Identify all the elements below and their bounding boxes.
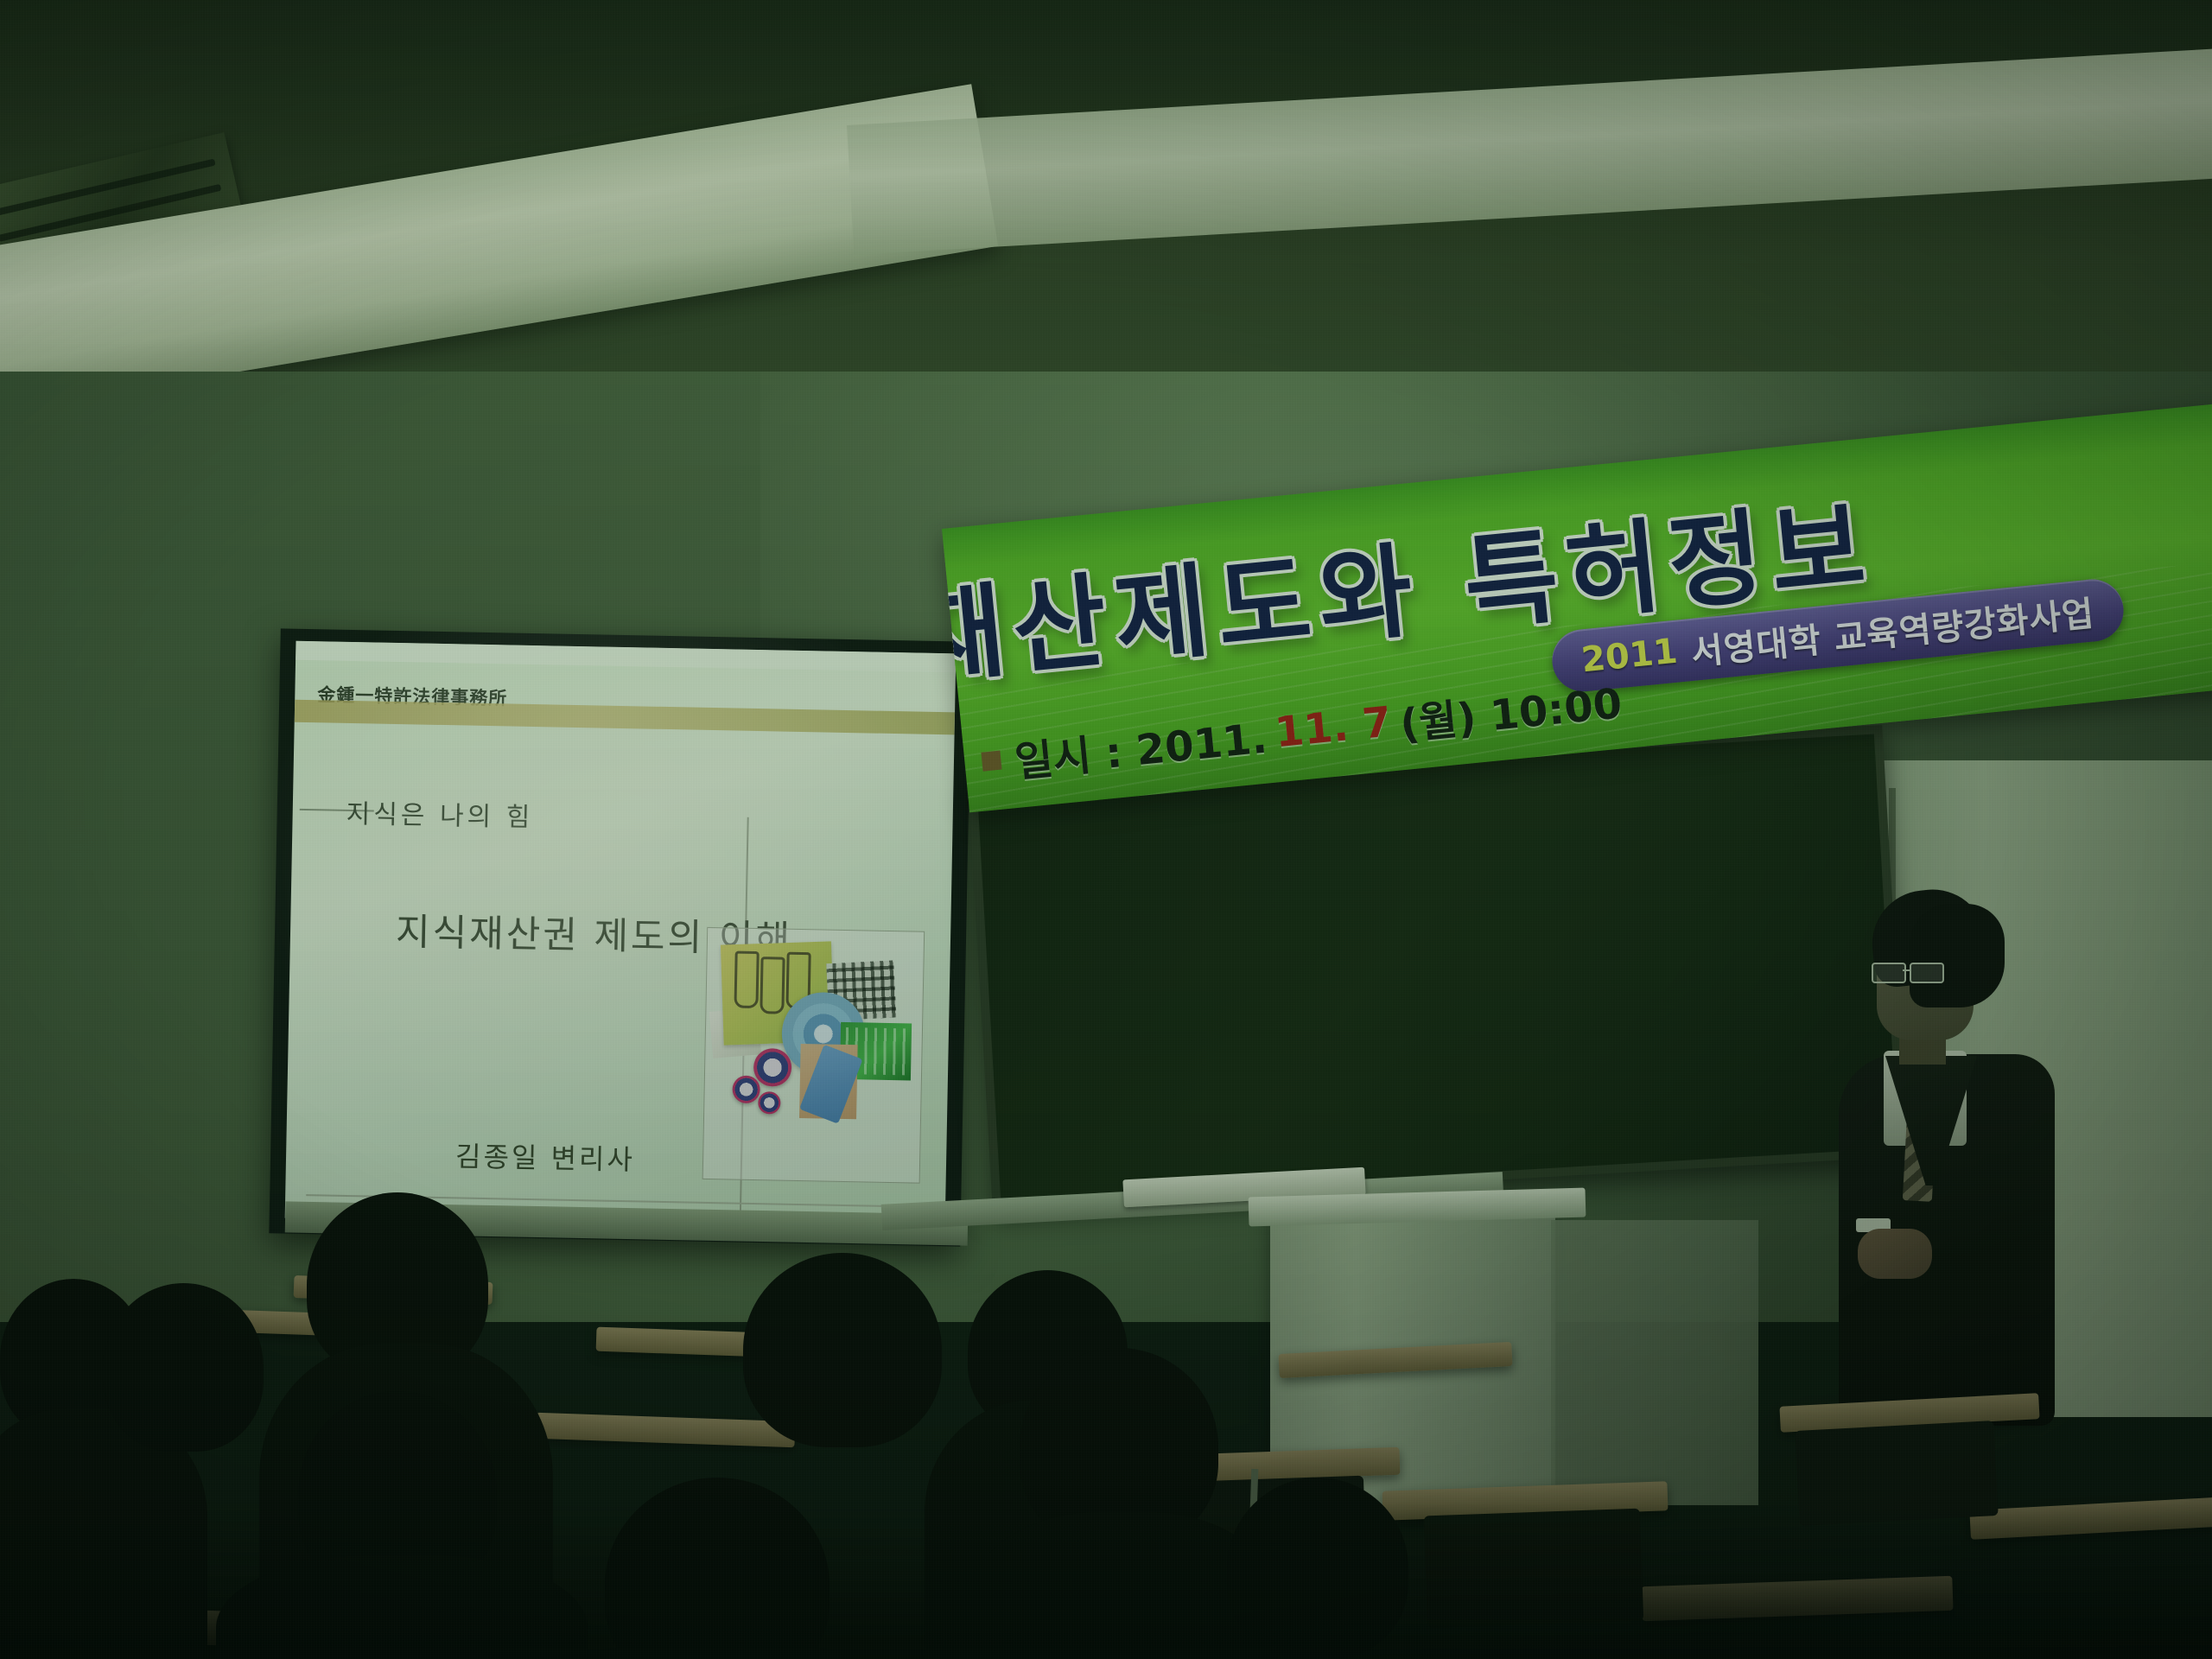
seal-badge-icon: [732, 1076, 760, 1104]
slide-tagline: 지식은 나의 힘: [346, 792, 533, 834]
banner-date-highlight: 11. 7: [1273, 697, 1394, 757]
slide-artwork-collage: [716, 937, 910, 1141]
slide-body: 지식은 나의 힘 지식재산권 제도의 이해 김종일 변리사: [285, 728, 955, 1231]
student-head: [743, 1253, 942, 1447]
slide-presenter: 김종일 변리사: [455, 1135, 636, 1178]
presenter-hair-back: [1910, 904, 2005, 1007]
banner-date-suffix: (월) 10:00: [1397, 669, 1624, 751]
seal-badge-icon: [758, 1091, 780, 1114]
lecture-hall-photo: 金鍾一特許法律事務所 지식은 나의 힘 지식재산권 제도의 이해 김종일 변리사: [0, 0, 2212, 1659]
bullet-square-icon: [981, 751, 1001, 772]
blackboard: [977, 734, 1898, 1200]
slide-artwork-frame: [702, 927, 925, 1184]
projected-slide: 金鍾一特許法律事務所 지식은 나의 힘 지식재산권 제도의 이해 김종일 변리사: [285, 641, 957, 1231]
student-head: [104, 1283, 264, 1452]
foreground-shadow: [0, 1503, 2212, 1659]
banner-date-prefix: 일시 : 2011.: [1012, 704, 1269, 789]
eyeglasses-icon: [1872, 963, 1946, 982]
projection-screen: 金鍾一特許法律事務所 지식은 나의 힘 지식재산권 제도의 이해 김종일 변리사: [269, 628, 971, 1246]
seal-badge-icon: [753, 1048, 792, 1087]
